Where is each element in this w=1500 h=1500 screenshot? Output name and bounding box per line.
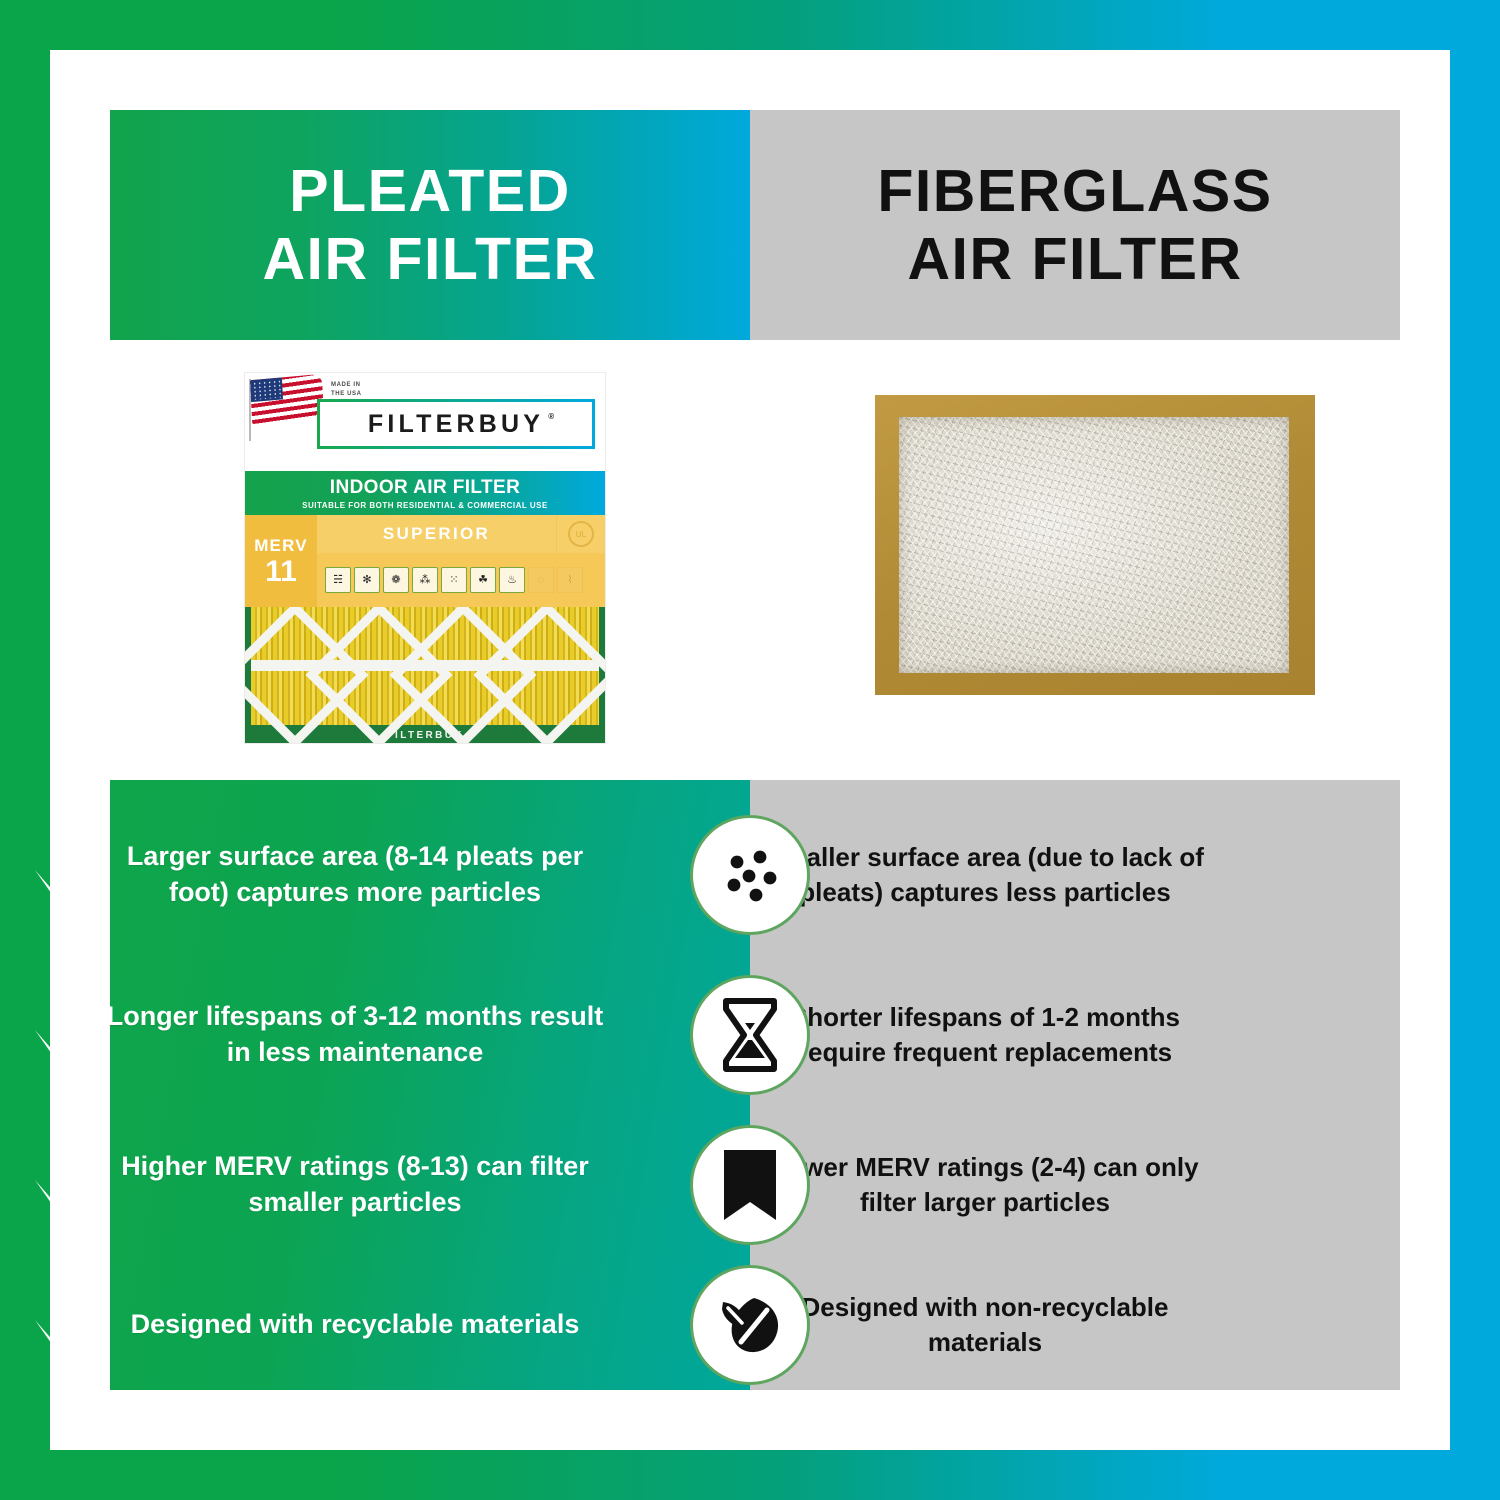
- comparison-row: Larger surface area (8-14 pleats per foo…: [0, 800, 1290, 950]
- leaf-icon-badge: [690, 1265, 810, 1385]
- comparison-row-left: Longer lifespans of 3-12 months result i…: [0, 999, 640, 1070]
- particles-icon: [713, 838, 787, 912]
- checkmark-icon: [26, 1007, 98, 1063]
- bookmark-icon-badge: [690, 1125, 810, 1245]
- comparison-row-left: Larger surface area (8-14 pleats per foo…: [0, 839, 640, 910]
- diamond-support-grid: [251, 607, 599, 725]
- support-diamond: [473, 607, 605, 743]
- hourglass-icon: [718, 996, 782, 1074]
- particles-icon-badge: [690, 815, 810, 935]
- comparison-rows: Larger surface area (8-14 pleats per foo…: [0, 0, 1290, 610]
- hourglass-icon-badge: [690, 975, 810, 1095]
- comparison-row-left: Higher MERV ratings (8-13) can filter sm…: [0, 1149, 640, 1220]
- pleated-media-area: FILTERBUY: [245, 607, 605, 743]
- comparison-row: Higher MERV ratings (8-13) can filter sm…: [0, 1110, 1290, 1260]
- leaf-icon: [713, 1290, 787, 1360]
- comparison-row: Designed with recyclable materials Desig…: [0, 1250, 1290, 1400]
- checkmark-icon: [26, 847, 98, 903]
- package-bottom-brand: FILTERBUY: [245, 730, 605, 741]
- checkmark-icon: [26, 1157, 98, 1213]
- comparison-left-text: Longer lifespans of 3-12 months result i…: [98, 999, 640, 1070]
- comparison-left-text: Larger surface area (8-14 pleats per foo…: [98, 839, 640, 910]
- comparison-row: Longer lifespans of 3-12 months result i…: [0, 960, 1290, 1110]
- comparison-row-left: Designed with recyclable materials: [0, 1297, 640, 1353]
- comparison-left-text: Designed with recyclable materials: [98, 1307, 640, 1343]
- bookmark-icon: [721, 1147, 779, 1223]
- checkmark-icon: [26, 1297, 98, 1353]
- comparison-left-text: Higher MERV ratings (8-13) can filter sm…: [98, 1149, 640, 1220]
